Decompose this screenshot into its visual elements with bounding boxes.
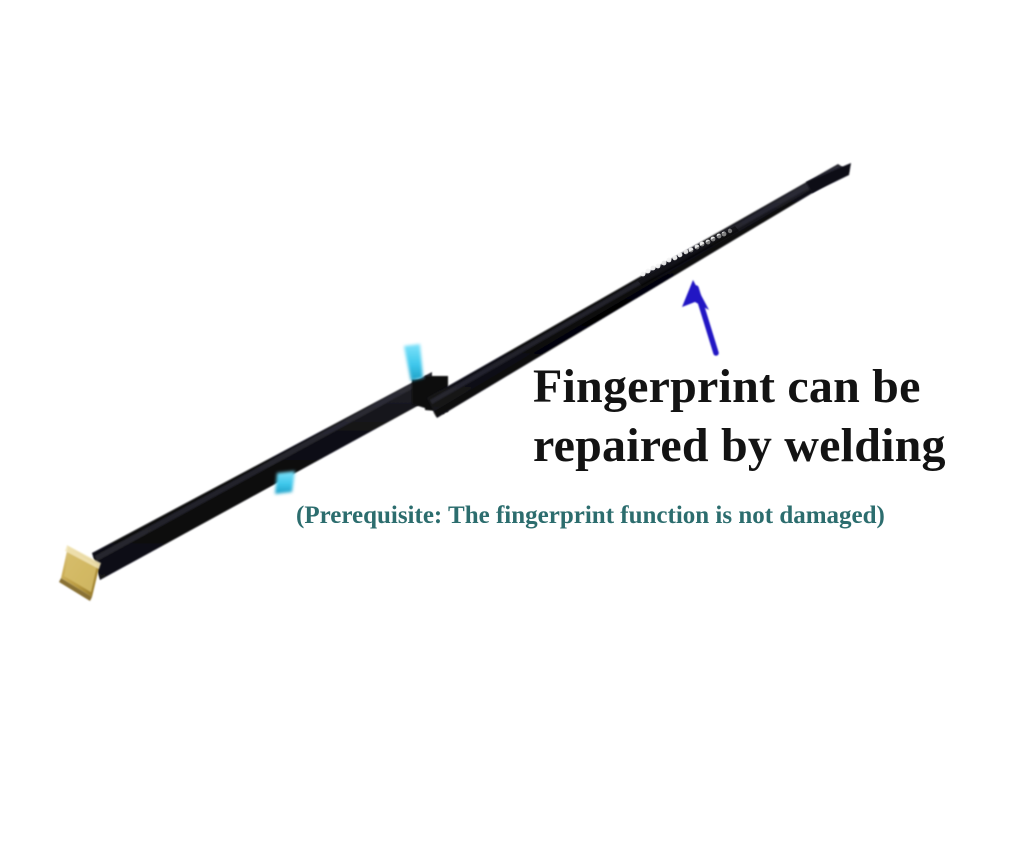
cyan-tape-upper (404, 344, 423, 381)
pad-band-shadow (638, 226, 739, 286)
cable-tip (806, 163, 851, 193)
callout-arrow (682, 280, 716, 353)
headline-line-1: Fingerprint can be (533, 357, 1024, 416)
headline-line-2: repaired by welding (533, 416, 1024, 475)
cyan-tape-lower (275, 471, 295, 494)
subtitle-text: (Prerequisite: The fingerprint function … (296, 500, 885, 532)
headline-text: Fingerprint can be repaired by welding (533, 357, 1024, 475)
cable-lower-segment (92, 372, 432, 580)
image-canvas: Fingerprint can be repaired by welding (… (0, 0, 1024, 849)
